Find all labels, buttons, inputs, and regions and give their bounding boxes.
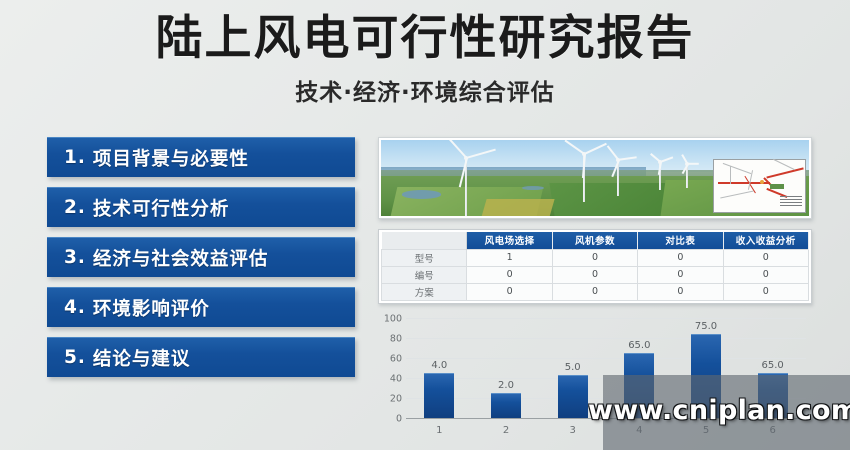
agenda-item-2[interactable]: 2. 技术可行性分析 (47, 187, 355, 227)
photo-pond (522, 186, 543, 191)
agenda-item-3[interactable]: 3. 经济与社会效益评估 (47, 237, 355, 277)
table-corner-cell (382, 232, 467, 249)
map-legend (780, 196, 802, 208)
wind-turbine-icon (453, 158, 479, 216)
matrix-table-wrapper: 风电场选择 风机参数 对比表 收入收益分析 型号 1 0 0 0 (378, 229, 812, 304)
chart-bar (424, 373, 454, 418)
agenda-item-label: 结论与建议 (93, 345, 191, 371)
chart-x-tick-label: 1 (424, 425, 454, 436)
chart-bar-value-label: 2.0 (483, 380, 529, 391)
table-header-row: 风电场选择 风机参数 对比表 收入收益分析 (382, 232, 809, 249)
agenda-item-label: 项目背景与必要性 (93, 145, 249, 171)
chart-bar (491, 393, 521, 418)
chart-bar (558, 375, 588, 418)
agenda-item-number: 5. (64, 347, 86, 368)
table-row: 型号 1 0 0 0 (382, 249, 809, 266)
table-cell: 0 (638, 266, 723, 283)
chart-y-tick-label: 0 (380, 413, 402, 424)
photo-content (381, 140, 809, 216)
chart-bar-value-label: 5.0 (550, 362, 596, 373)
table-row-label: 编号 (382, 266, 467, 283)
agenda-item-number: 3. (64, 247, 86, 268)
wind-turbine-icon (609, 160, 627, 196)
chart-y-tick-label: 100 (380, 313, 402, 324)
chart-y-tick-label: 40 (380, 373, 402, 384)
photo-field (481, 199, 555, 216)
wind-farm-photo (378, 137, 812, 219)
agenda-item-number: 4. (64, 297, 86, 318)
chart-gridline (406, 318, 806, 319)
table-row: 编号 0 0 0 0 (382, 266, 809, 283)
agenda-list: 1. 项目背景与必要性 2. 技术可行性分析 3. 经济与社会效益评估 4. 环… (47, 137, 355, 387)
table-col-header[interactable]: 对比表 (638, 232, 723, 249)
chart-gridline (406, 358, 806, 359)
chart-bar-value-label: 65.0 (616, 340, 662, 351)
page-subtitle: 技术·经济·环境综合评估 (0, 73, 850, 107)
slide-header: 陆上风电可行性研究报告 技术·经济·环境综合评估 (0, 14, 850, 107)
table-col-header[interactable]: 收入收益分析 (723, 232, 808, 249)
table-cell: 1 (467, 249, 552, 266)
table-cell: 0 (552, 249, 637, 266)
table-cell: 0 (467, 283, 552, 300)
agenda-item-label: 环境影响评价 (93, 295, 210, 321)
table-cell: 0 (638, 283, 723, 300)
table-col-header[interactable]: 风电场选择 (467, 232, 552, 249)
agenda-item-number: 1. (64, 147, 86, 168)
table-cell: 0 (723, 266, 808, 283)
slide-canvas: 陆上风电可行性研究报告 技术·经济·环境综合评估 1. 项目背景与必要性 2. … (0, 0, 850, 450)
table-cell: 0 (638, 249, 723, 266)
chart-gridline (406, 338, 806, 339)
chart-x-tick-label: 3 (558, 425, 588, 436)
route-inset-map (713, 159, 806, 213)
table-col-header[interactable]: 风机参数 (552, 232, 637, 249)
chart-y-tick-label: 20 (380, 393, 402, 404)
chart-bar-value-label: 65.0 (750, 360, 796, 371)
agenda-item-5[interactable]: 5. 结论与建议 (47, 337, 355, 377)
chart-bar-value-label: 4.0 (416, 360, 462, 371)
chart-x-tick-label: 2 (491, 425, 521, 436)
agenda-item-4[interactable]: 4. 环境影响评价 (47, 287, 355, 327)
wind-turbine-icon (653, 162, 667, 190)
agenda-item-number: 2. (64, 197, 86, 218)
table-row-label: 型号 (382, 249, 467, 266)
chart-bar-value-label: 75.0 (683, 321, 729, 332)
table-cell: 0 (723, 283, 808, 300)
matrix-table: 风电场选择 风机参数 对比表 收入收益分析 型号 1 0 0 0 (381, 232, 809, 301)
agenda-item-label: 经济与社会效益评估 (93, 245, 269, 271)
agenda-item-1[interactable]: 1. 项目背景与必要性 (47, 137, 355, 177)
table-cell: 0 (467, 266, 552, 283)
agenda-item-label: 技术可行性分析 (93, 195, 230, 221)
chart-y-tick-label: 80 (380, 333, 402, 344)
table-cell: 0 (552, 283, 637, 300)
table-cell: 0 (552, 266, 637, 283)
watermark-text: www.cniplan.com (588, 395, 850, 426)
photo-pond (402, 190, 441, 198)
wind-turbine-icon (573, 154, 595, 202)
chart-y-tick-label: 60 (380, 353, 402, 364)
page-title: 陆上风电可行性研究报告 (0, 14, 850, 64)
table-cell: 0 (723, 249, 808, 266)
wind-turbine-icon (681, 164, 693, 188)
table-row-label: 方案 (382, 283, 467, 300)
table-row: 方案 0 0 0 0 (382, 283, 809, 300)
